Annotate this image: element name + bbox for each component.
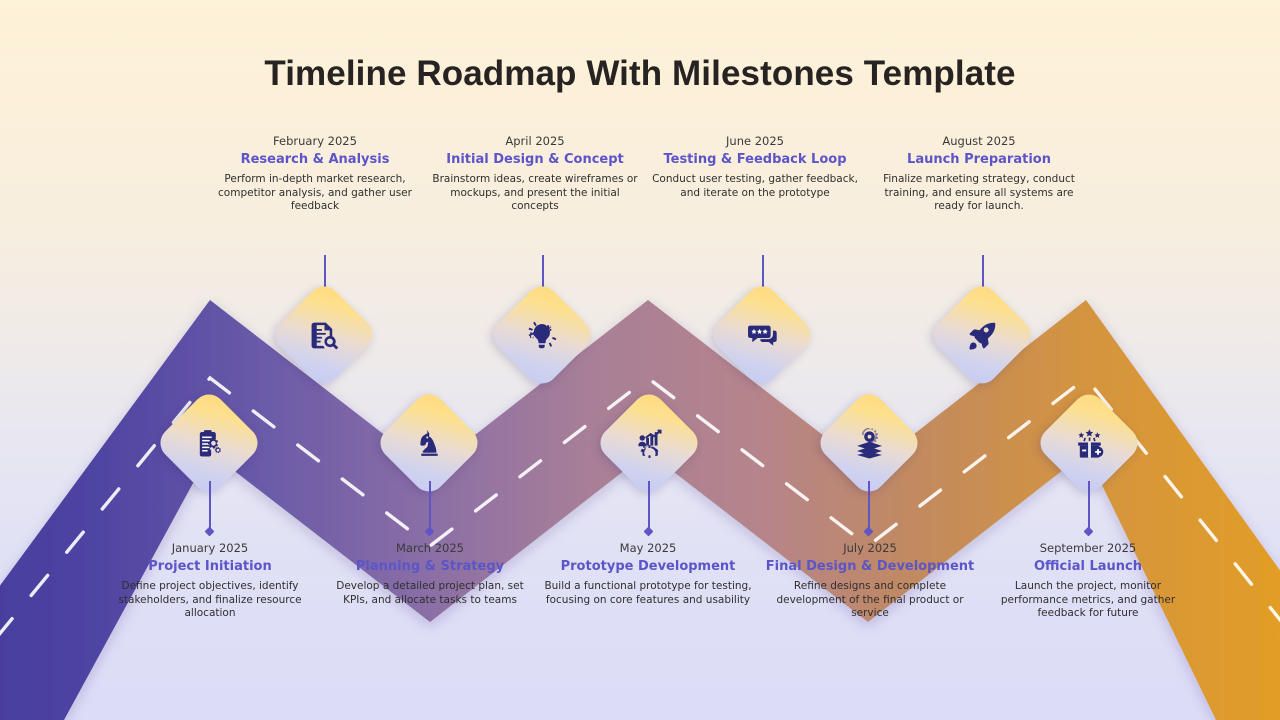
milestone-text-april: April 2025 Initial Design & Concept Brai… [430, 134, 640, 214]
milestone-badge-april[interactable] [487, 280, 597, 390]
connector-stem-march [429, 481, 431, 531]
milestone-title: Research & Analysis [210, 151, 420, 168]
page-title: Timeline Roadmap With Milestones Templat… [0, 54, 1280, 94]
connector-stem-may [648, 481, 650, 531]
growth-chart-gear-icon [610, 404, 688, 482]
gift-box-stars-icon [1050, 404, 1128, 482]
milestone-description: Perform in-depth market research, compet… [210, 173, 420, 214]
connector-stem-september [1088, 481, 1090, 531]
milestone-date: July 2025 [763, 541, 977, 556]
milestone-date: February 2025 [210, 134, 420, 149]
milestone-description: Develop a detailed project plan, set KPI… [325, 580, 535, 607]
milestone-title: Prototype Development [543, 558, 753, 575]
milestone-text-january: January 2025 Project Initiation Define p… [105, 541, 315, 621]
chat-rating-icon [723, 296, 801, 374]
chess-knight-icon [390, 404, 468, 482]
rocket-icon [943, 296, 1021, 374]
document-search-icon [285, 296, 363, 374]
milestone-text-june: June 2025 Testing & Feedback Loop Conduc… [650, 134, 860, 200]
milestone-date: June 2025 [650, 134, 860, 149]
milestone-title: Final Design & Development [763, 558, 977, 575]
milestone-title: Initial Design & Concept [430, 151, 640, 168]
milestone-title: Official Launch [981, 558, 1195, 575]
milestone-title: Planning & Strategy [325, 558, 535, 575]
milestone-date: January 2025 [105, 541, 315, 556]
layers-gear-icon [830, 404, 908, 482]
milestone-text-march: March 2025 Planning & Strategy Develop a… [325, 541, 535, 607]
milestone-description: Refine designs and complete development … [763, 580, 977, 621]
clipboard-gear-icon [170, 404, 248, 482]
milestone-title: Launch Preparation [874, 151, 1084, 168]
milestone-text-august: August 2025 Launch Preparation Finalize … [874, 134, 1084, 214]
milestone-description: Finalize marketing strategy, conduct tra… [874, 173, 1084, 214]
milestone-text-may: May 2025 Prototype Development Build a f… [543, 541, 753, 607]
milestone-date: April 2025 [430, 134, 640, 149]
milestone-title: Project Initiation [105, 558, 315, 575]
milestone-text-july: July 2025 Final Design & Development Ref… [763, 541, 977, 621]
milestone-date: September 2025 [981, 541, 1195, 556]
milestone-date: March 2025 [325, 541, 535, 556]
milestone-badge-august[interactable] [927, 280, 1037, 390]
roadmap-canvas: Timeline Roadmap With Milestones Templat… [0, 0, 1280, 720]
milestone-title: Testing & Feedback Loop [650, 151, 860, 168]
milestone-badge-february[interactable] [269, 280, 379, 390]
milestone-text-september: September 2025 Official Launch Launch th… [981, 541, 1195, 621]
milestone-badge-june[interactable] [707, 280, 817, 390]
milestone-description: Brainstorm ideas, create wireframes or m… [430, 173, 640, 214]
milestone-date: May 2025 [543, 541, 753, 556]
milestone-description: Build a functional prototype for testing… [543, 580, 753, 607]
lightbulb-gear-icon [503, 296, 581, 374]
milestone-text-february: February 2025 Research & Analysis Perfor… [210, 134, 420, 214]
milestone-description: Conduct user testing, gather feedback, a… [650, 173, 860, 200]
connector-stem-july [868, 481, 870, 531]
connector-stem-january [209, 481, 211, 531]
milestone-description: Launch the project, monitor performance … [981, 580, 1195, 621]
milestone-description: Define project objectives, identify stak… [105, 580, 315, 621]
milestone-date: August 2025 [874, 134, 1084, 149]
